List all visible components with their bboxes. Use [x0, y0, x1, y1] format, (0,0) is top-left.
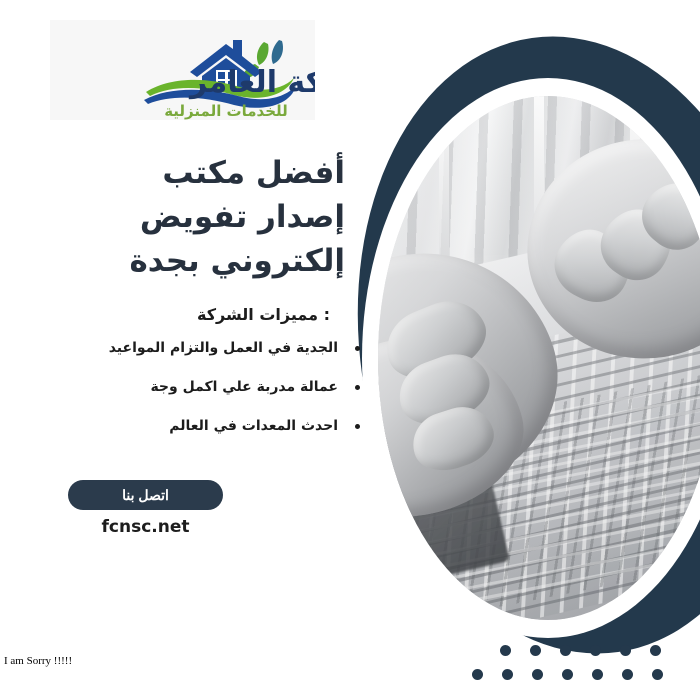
- dot: [652, 669, 663, 680]
- dot: [502, 669, 513, 680]
- feature-item: عمالة مدربة علي اكمل وجة: [40, 379, 360, 396]
- laptop-photo-image: [378, 96, 700, 620]
- website-url[interactable]: fcnsc.net: [68, 517, 223, 537]
- headline: أفضل مكتب إصدار تفويض إلكتروني بجدة: [45, 151, 345, 283]
- dot: [472, 669, 483, 680]
- photo-tone-overlay: [378, 96, 700, 620]
- dot-row: [472, 669, 663, 680]
- headline-line-2: إصدار تفويض: [45, 195, 345, 239]
- dot: [590, 645, 601, 656]
- headline-line-1: أفضل مكتب: [45, 151, 345, 195]
- dot: [562, 669, 573, 680]
- company-logo: شركة العامر للخدمات المنزلية: [50, 20, 315, 120]
- poster-canvas: شركة العامر للخدمات المنزلية أفضل مكتب إ…: [0, 0, 700, 700]
- contact-us-button[interactable]: اتصل بنا: [68, 480, 223, 510]
- logo-tagline: للخدمات المنزلية: [164, 102, 288, 120]
- logo-artwork: شركة العامر للخدمات المنزلية: [50, 20, 315, 120]
- dot: [650, 645, 661, 656]
- dot: [560, 645, 571, 656]
- feature-item-label: الجدية في العمل والتزام المواعيد: [109, 340, 338, 356]
- sorry-note: I am Sorry !!!!!: [4, 655, 72, 667]
- bullet-icon: [355, 385, 360, 390]
- features-list: الجدية في العمل والتزام المواعيد عمالة م…: [40, 340, 360, 434]
- feature-item-label: احدث المعدات في العالم: [169, 418, 338, 434]
- features-section: : مميزات الشركة الجدية في العمل والتزام …: [40, 305, 360, 456]
- dot: [622, 669, 633, 680]
- feature-item-label: عمالة مدربة علي اكمل وجة: [150, 379, 338, 395]
- feature-item: الجدية في العمل والتزام المواعيد: [40, 340, 360, 357]
- feature-item: احدث المعدات في العالم: [40, 418, 360, 435]
- bullet-icon: [355, 346, 360, 351]
- dot: [592, 669, 603, 680]
- dot: [500, 645, 511, 656]
- bullet-icon: [355, 424, 360, 429]
- laptop-photo-circle: [378, 96, 700, 620]
- dot-row: [500, 645, 663, 656]
- headline-line-3: إلكتروني بجدة: [45, 239, 345, 283]
- features-title: : مميزات الشركة: [40, 305, 360, 324]
- dot-grid-decoration: [500, 645, 663, 693]
- dot: [620, 645, 631, 656]
- logo-company-name: شركة العامر: [188, 65, 315, 100]
- dot: [530, 645, 541, 656]
- dot: [532, 669, 543, 680]
